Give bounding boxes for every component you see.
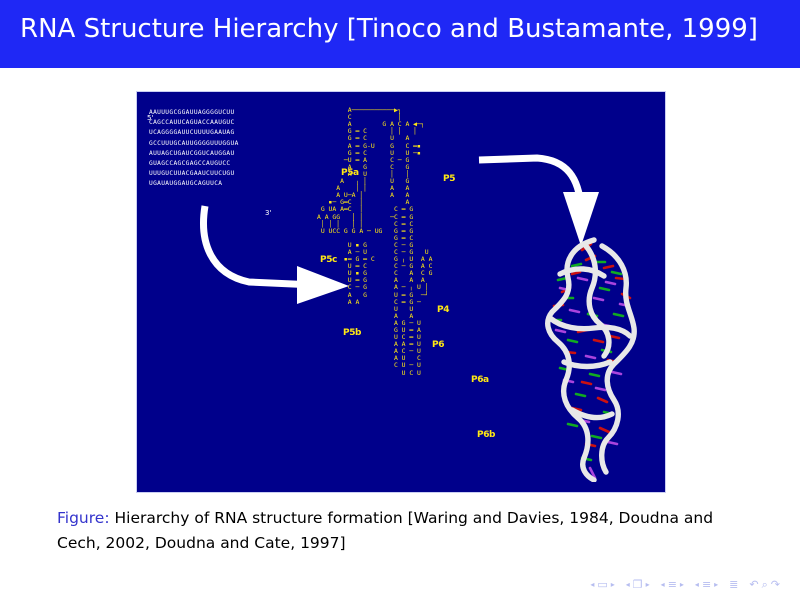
previous-slide-icon[interactable]: ◂ xyxy=(590,580,594,590)
forward-icon[interactable]: ↷ xyxy=(771,580,780,590)
section-icon[interactable]: ≡ xyxy=(702,580,711,590)
history-navigation-group[interactable]: ↶ ⌕ ↷ xyxy=(749,580,780,590)
frame-navigation-group[interactable]: ◂ ❐ ▸ xyxy=(626,580,650,590)
previous-section-icon[interactable]: ◂ xyxy=(695,580,699,590)
previous-frame-icon[interactable]: ◂ xyxy=(626,580,630,590)
subsection-navigation-group[interactable]: ◂ ≡ ▸ xyxy=(661,580,684,590)
document-navigation-group[interactable]: ≣ xyxy=(729,580,738,590)
tertiary-structure-model xyxy=(542,232,652,482)
search-icon[interactable]: ⌕ xyxy=(762,580,768,590)
next-slide-icon[interactable]: ▸ xyxy=(611,580,615,590)
helix-label-p4: P4 xyxy=(437,305,449,315)
back-icon[interactable]: ↶ xyxy=(749,580,758,590)
helix-label-p5: P5 xyxy=(443,174,455,184)
figure-caption: Figure: Hierarchy of RNA structure forma… xyxy=(57,506,747,556)
helix-label-p6b: P6b xyxy=(477,430,495,440)
helix-label-p6a: P6a xyxy=(471,375,489,385)
slide-title-bar: RNA Structure Hierarchy [Tinoco and Bust… xyxy=(0,0,800,68)
next-subsection-icon[interactable]: ▸ xyxy=(680,580,684,590)
caption-label: Figure: xyxy=(57,509,110,527)
helix-label-p5b: P5b xyxy=(343,328,361,338)
figure-image: 5' AAUUUGCGGAUUAGGGGUCUU CAGCCAUUCAGUACC… xyxy=(136,91,666,493)
helix-label-p6: P6 xyxy=(432,340,444,350)
frame-icon[interactable]: ❐ xyxy=(633,580,643,590)
slide-navigation-group[interactable]: ◂ ▭ ▸ xyxy=(590,580,614,590)
document-icon[interactable]: ≣ xyxy=(729,580,738,590)
next-section-icon[interactable]: ▸ xyxy=(714,580,718,590)
helix-label-p5a: P5a xyxy=(341,168,359,178)
slide-icon[interactable]: ▭ xyxy=(597,580,607,590)
previous-subsection-icon[interactable]: ◂ xyxy=(661,580,665,590)
page-title: RNA Structure Hierarchy [Tinoco and Bust… xyxy=(20,14,758,44)
caption-text: Hierarchy of RNA structure formation [Wa… xyxy=(57,509,713,552)
helix-label-p5c: P5c xyxy=(320,255,337,265)
next-frame-icon[interactable]: ▸ xyxy=(646,580,650,590)
section-navigation-group[interactable]: ◂ ≡ ▸ xyxy=(695,580,718,590)
subsection-icon[interactable]: ≡ xyxy=(668,580,677,590)
beamer-navigation-bar[interactable]: ◂ ▭ ▸ ◂ ❐ ▸ ◂ ≡ ▸ ◂ ≡ ▸ ≣ ↶ ⌕ ↷ xyxy=(420,576,780,594)
